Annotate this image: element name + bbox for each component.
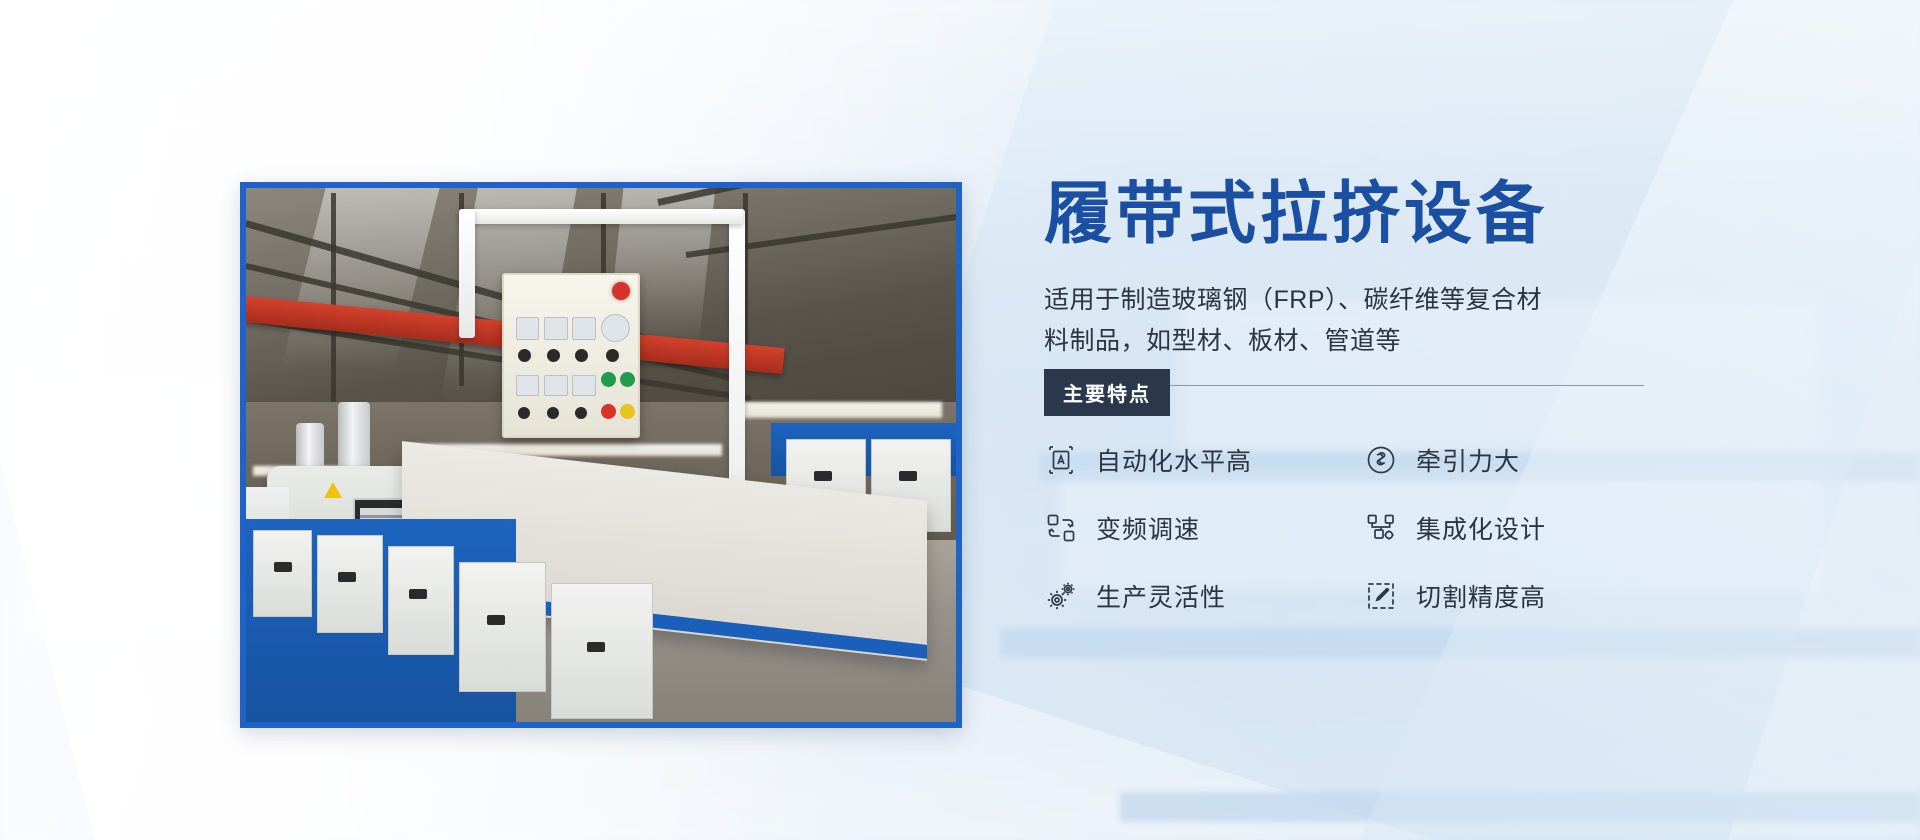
feature-item-cutting-precision: 切割精度高: [1364, 578, 1684, 614]
ghost-band-b: [1000, 628, 1920, 658]
feature-item-vfd: 变频调速: [1044, 510, 1364, 546]
feature-item-flexibility: 生产灵活性: [1044, 578, 1364, 614]
feature-label: 自动化水平高: [1096, 442, 1252, 478]
frequency-swap-icon: [1044, 511, 1078, 545]
precision-pen-icon: [1364, 579, 1398, 613]
integrated-nodes-icon: [1364, 511, 1398, 545]
pultrusion-machine-photo: [246, 188, 956, 722]
status-badge: 主要特点: [1044, 369, 1170, 416]
feature-item-automation: 自动化水平高: [1044, 442, 1364, 478]
product-banner: 履带式拉挤设备 适用于制造玻璃钢（FRP）、碳纤维等复合材 料制品，如型材、板材…: [0, 0, 1920, 840]
traction-circle-icon: [1364, 443, 1398, 477]
feature-item-traction: 牵引力大: [1364, 442, 1684, 478]
ghost-band-c: [1120, 792, 1920, 822]
description-line-2: 料制品，如型材、板材、管道等: [1044, 327, 1401, 355]
feature-label: 变频调速: [1096, 510, 1200, 546]
letter-a-framed-icon: [1044, 443, 1078, 477]
gantry-beam: [459, 209, 743, 224]
gears-icon: [1044, 579, 1078, 613]
feature-label: 牵引力大: [1416, 442, 1520, 478]
feature-item-integration: 集成化设计: [1364, 510, 1684, 546]
feature-label: 切割精度高: [1416, 578, 1546, 614]
gantry-post-left: [459, 209, 475, 337]
feature-list: 自动化水平高 牵引力大: [1044, 442, 1684, 614]
control-panel: [502, 273, 641, 437]
product-photo-card: [240, 182, 962, 728]
feature-label: 生产灵活性: [1096, 578, 1226, 614]
product-description: 适用于制造玻璃钢（FRP）、碳纤维等复合材 料制品，如型材、板材、管道等: [1044, 280, 1644, 361]
feature-label: 集成化设计: [1416, 510, 1546, 546]
banner-content: 履带式拉挤设备 适用于制造玻璃钢（FRP）、碳纤维等复合材 料制品，如型材、板材…: [1044, 178, 1684, 614]
page-title: 履带式拉挤设备: [1044, 178, 1684, 250]
description-line-1: 适用于制造玻璃钢（FRP）、碳纤维等复合材: [1044, 286, 1542, 314]
